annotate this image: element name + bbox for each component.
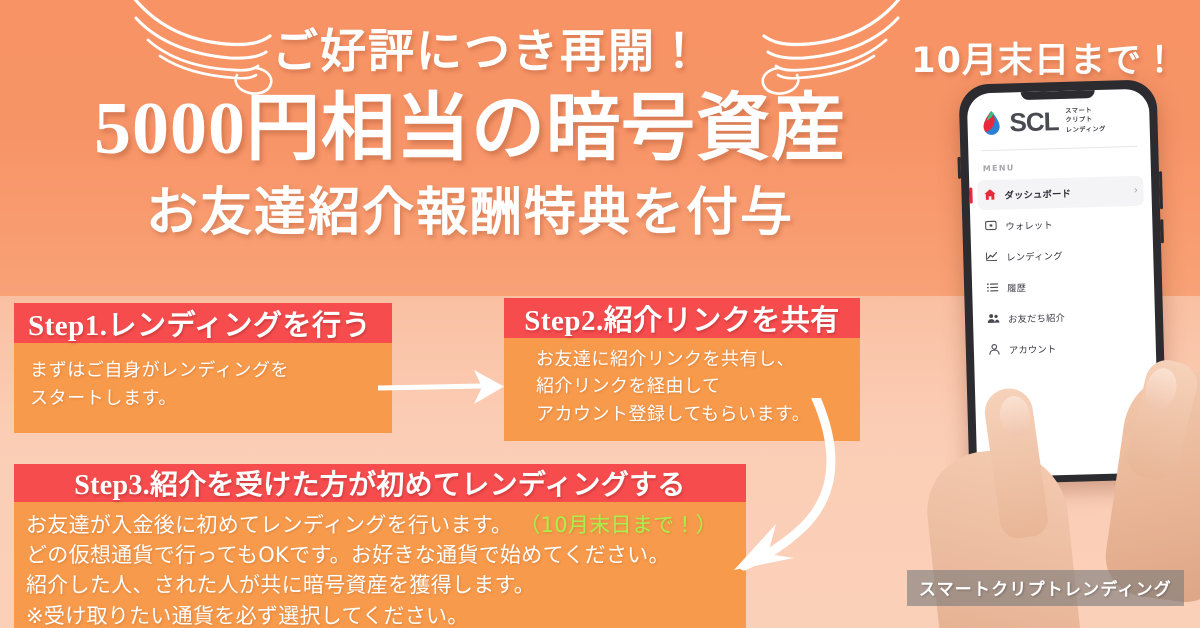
step-1-body: まずはご自身がレンディングを スタートします。 [14,343,392,433]
step-3-inline-highlight: （10月末日まで！） [519,513,717,537]
chart-icon [985,250,998,263]
friends-icon [987,312,1000,325]
step-3-body-line-1-text: お友達が入金後に初めてレンディングを行います。 [26,513,512,537]
arrow-curved-down-icon [690,398,880,593]
step-3-body: お友達が入金後に初めてレンディングを行います。 （10月末日まで！） どの仮想通… [14,502,746,628]
step-2-body-line-1: お友達に紹介リンクを共有し、 [536,346,850,373]
step-3-heading: Step3.紹介を受けた方が初めてレンディングする [14,464,746,502]
logo-wordmark: SCL [1009,108,1059,135]
home-icon [983,188,996,201]
step-3-body-line-2: どの仮想通貨で行ってもOKです。お好きな通貨で始めてください。 [26,540,736,570]
logo-subtitle-line-3: レンディング [1066,124,1107,134]
headline-line-2: 5000円相当の暗号資産 [94,86,846,173]
phone-side-button-left [957,157,961,179]
phone-side-button-2 [1160,219,1164,243]
sidebar-item-history-label: 履歴 [1007,280,1026,295]
sidebar-item-wallet-label: ウォレット [1005,217,1053,232]
wallet-icon [984,219,997,232]
phone-photo-scene: SCL スマート クリプト レンディング MENU ダッシュボード › [940,70,1200,628]
sidebar-item-referral[interactable]: お友だち紹介 [981,300,1148,335]
chevron-right-icon: › [1134,186,1138,196]
step-1-body-line-2: スタートします。 [30,385,378,413]
headline-line-1: ご好評につき再開！ [272,26,704,78]
phone-side-button-1 [1159,171,1163,209]
step-card-1: Step1.レンディングを行う まずはご自身がレンディングを スタートします。 [14,303,392,433]
step-2-body-line-2: 紹介リンクを経由して [536,373,850,400]
sidebar-item-account-label: アカウント [1009,341,1057,356]
headline-line-3: お友達紹介報酬特典を付与 [146,183,794,244]
person-icon [988,343,1001,356]
sidebar-item-lending-label: レンディング [1006,248,1063,264]
sidebar-item-wallet[interactable]: ウォレット [978,207,1145,242]
step-2-heading: Step2.紹介リンクを共有 [504,298,860,338]
menu-section-label: MENU [968,146,1151,179]
step-3-body-line-1: お友達が入金後に初めてレンディングを行います。 （10月末日まで！） [26,510,736,540]
step-3-body-line-3: 紹介した人、された人が共に暗号資産を獲得します。 [26,570,736,600]
step-card-3: Step3.紹介を受けた方が初めてレンディングする お友達が入金後に初めてレンデ… [14,464,746,628]
arrow-right-icon [378,363,508,416]
scl-droplet-logo-icon [980,110,1003,137]
sidebar-item-history[interactable]: 履歴 [980,269,1147,304]
brand-badge: スマートクリプトレンディング [907,570,1184,606]
step-3-body-line-4-note: ※受け取りたい通貨を必ず選択してください。 [26,601,736,628]
sidebar-item-account[interactable]: アカウント [981,331,1148,366]
sidebar-item-referral-label: お友だち紹介 [1008,310,1065,326]
sidebar-item-dashboard[interactable]: ダッシュボード › [977,176,1144,211]
list-icon [986,281,999,294]
logo-subtitle: スマート クリプト レンディング [1065,106,1106,135]
step-1-heading: Step1.レンディングを行う [14,303,392,343]
step-1-body-line-1: まずはご自身がレンディングを [30,357,378,385]
headline-block: ご好評につき再開！ 5000円相当の暗号資産 お友達紹介報酬特典を付与 [0,0,940,290]
promo-banner: ご好評につき再開！ 5000円相当の暗号資産 お友達紹介報酬特典を付与 10月末… [0,0,1200,628]
sidebar-item-dashboard-label: ダッシュボード [1004,186,1071,202]
sidebar-item-lending[interactable]: レンディング [979,238,1146,273]
